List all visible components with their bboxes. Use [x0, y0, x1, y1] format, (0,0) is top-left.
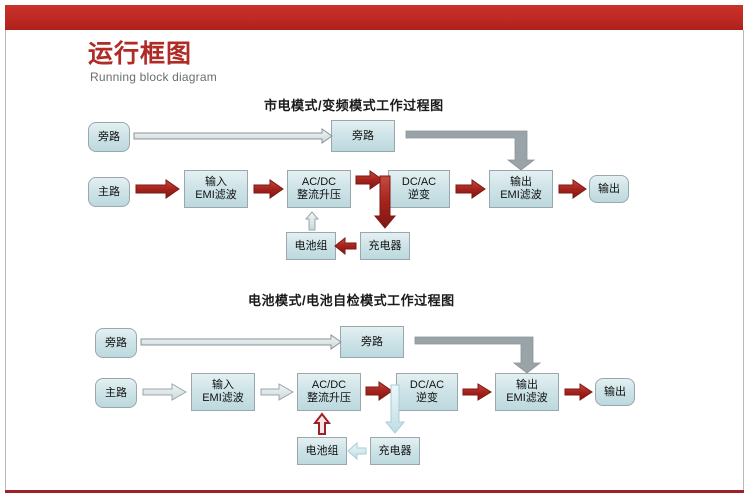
d2-arrow-acdc-to-dcac: [366, 382, 392, 400]
d1-node-acdc[interactable]: AC/DC 整流升压: [287, 170, 351, 208]
d2-node-dcac[interactable]: DC/AC 逆变: [396, 373, 458, 411]
d1-node-bypass-output[interactable]: 旁路: [331, 120, 395, 152]
d2-dcac-line1: DC/AC: [410, 379, 444, 392]
section-title-battery-mode: 电池模式/电池自检模式工作过程图: [248, 290, 455, 309]
right-border: [743, 30, 744, 492]
d1-node-mains-input[interactable]: 主路: [88, 177, 130, 207]
d2-arrow-input-emi-to-acdc: [261, 384, 293, 400]
d1-acdc-line1: AC/DC: [297, 176, 341, 189]
d1-arrow-input-emi-to-acdc: [254, 180, 283, 198]
d1-input-emi-line1: 输入: [195, 176, 237, 189]
d1-node-battery[interactable]: 电池组: [286, 232, 336, 260]
d1-arrow-charger-to-battery: [335, 238, 356, 254]
section-title-mains-mode: 市电模式/变频模式工作过程图: [264, 95, 444, 114]
d2-node-mains-input[interactable]: 主路: [95, 378, 137, 408]
d2-arrow-bypass-to-bypass: [141, 335, 341, 349]
d2-node-bypass-output[interactable]: 旁路: [340, 326, 404, 358]
d1-node-output-emi[interactable]: 输出 EMI滤波: [489, 170, 553, 208]
d1-arrow-output-emi-to-output: [559, 180, 586, 198]
d2-arrow-charger-to-battery: [348, 443, 366, 459]
d2-input-emi-line2: EMI滤波: [202, 392, 244, 405]
d2-input-emi-line1: 输入: [202, 379, 244, 392]
d2-arrow-bypass-to-output-emi: [415, 337, 540, 373]
d2-node-battery[interactable]: 电池组: [297, 437, 347, 465]
d1-node-input-emi[interactable]: 输入 EMI滤波: [184, 170, 248, 208]
d2-node-output[interactable]: 输出: [595, 378, 635, 406]
d1-node-bypass-input[interactable]: 旁路: [88, 122, 130, 152]
d2-arrow-battery-to-acdc: [315, 414, 329, 434]
d1-output-emi-line1: 输出: [500, 176, 542, 189]
top-accent-bar: [5, 5, 743, 30]
d1-node-output[interactable]: 输出: [589, 175, 629, 203]
d1-arrow-dcac-to-output-emi: [456, 180, 485, 198]
d2-acdc-line1: AC/DC: [307, 379, 351, 392]
d2-arrow-dcac-to-output-emi: [463, 384, 491, 400]
d1-node-dcac[interactable]: DC/AC 逆变: [388, 170, 450, 208]
d1-output-emi-line2: EMI滤波: [500, 189, 542, 202]
d2-arrow-mains-to-input-emi: [143, 384, 186, 400]
d2-output-emi-line2: EMI滤波: [506, 392, 548, 405]
slide-page: 运行框图 Running block diagram 市电模式/变频模式工作过程…: [0, 0, 750, 500]
d2-acdc-line2: 整流升压: [307, 392, 351, 405]
d1-arrow-bypass-to-output-emi: [406, 131, 534, 170]
d2-node-bypass-input[interactable]: 旁路: [95, 328, 137, 358]
d2-arrow-output-emi-to-output: [565, 384, 592, 400]
left-border: [5, 30, 6, 492]
d2-node-acdc[interactable]: AC/DC 整流升压: [297, 373, 361, 411]
d1-input-emi-line2: EMI滤波: [195, 189, 237, 202]
bottom-accent-bar: [5, 490, 744, 493]
d2-node-charger[interactable]: 充电器: [370, 437, 420, 465]
d1-arrow-battery-to-acdc: [306, 212, 318, 230]
page-title: 运行框图: [88, 42, 192, 67]
d1-dcac-line2: 逆变: [402, 189, 436, 202]
d1-node-charger[interactable]: 充电器: [360, 232, 410, 260]
d1-arrow-acdc-to-dcac: [356, 171, 383, 189]
d2-output-emi-line1: 输出: [506, 379, 548, 392]
d1-dcac-line1: DC/AC: [402, 176, 436, 189]
d2-node-input-emi[interactable]: 输入 EMI滤波: [191, 373, 255, 411]
d1-arrow-bypass-to-bypass: [134, 129, 332, 143]
d1-acdc-line2: 整流升压: [297, 189, 341, 202]
page-subtitle: Running block diagram: [90, 70, 217, 84]
d2-dcac-line2: 逆变: [410, 392, 444, 405]
d2-node-output-emi[interactable]: 输出 EMI滤波: [495, 373, 559, 411]
d1-arrow-mains-to-input-emi: [136, 180, 179, 198]
